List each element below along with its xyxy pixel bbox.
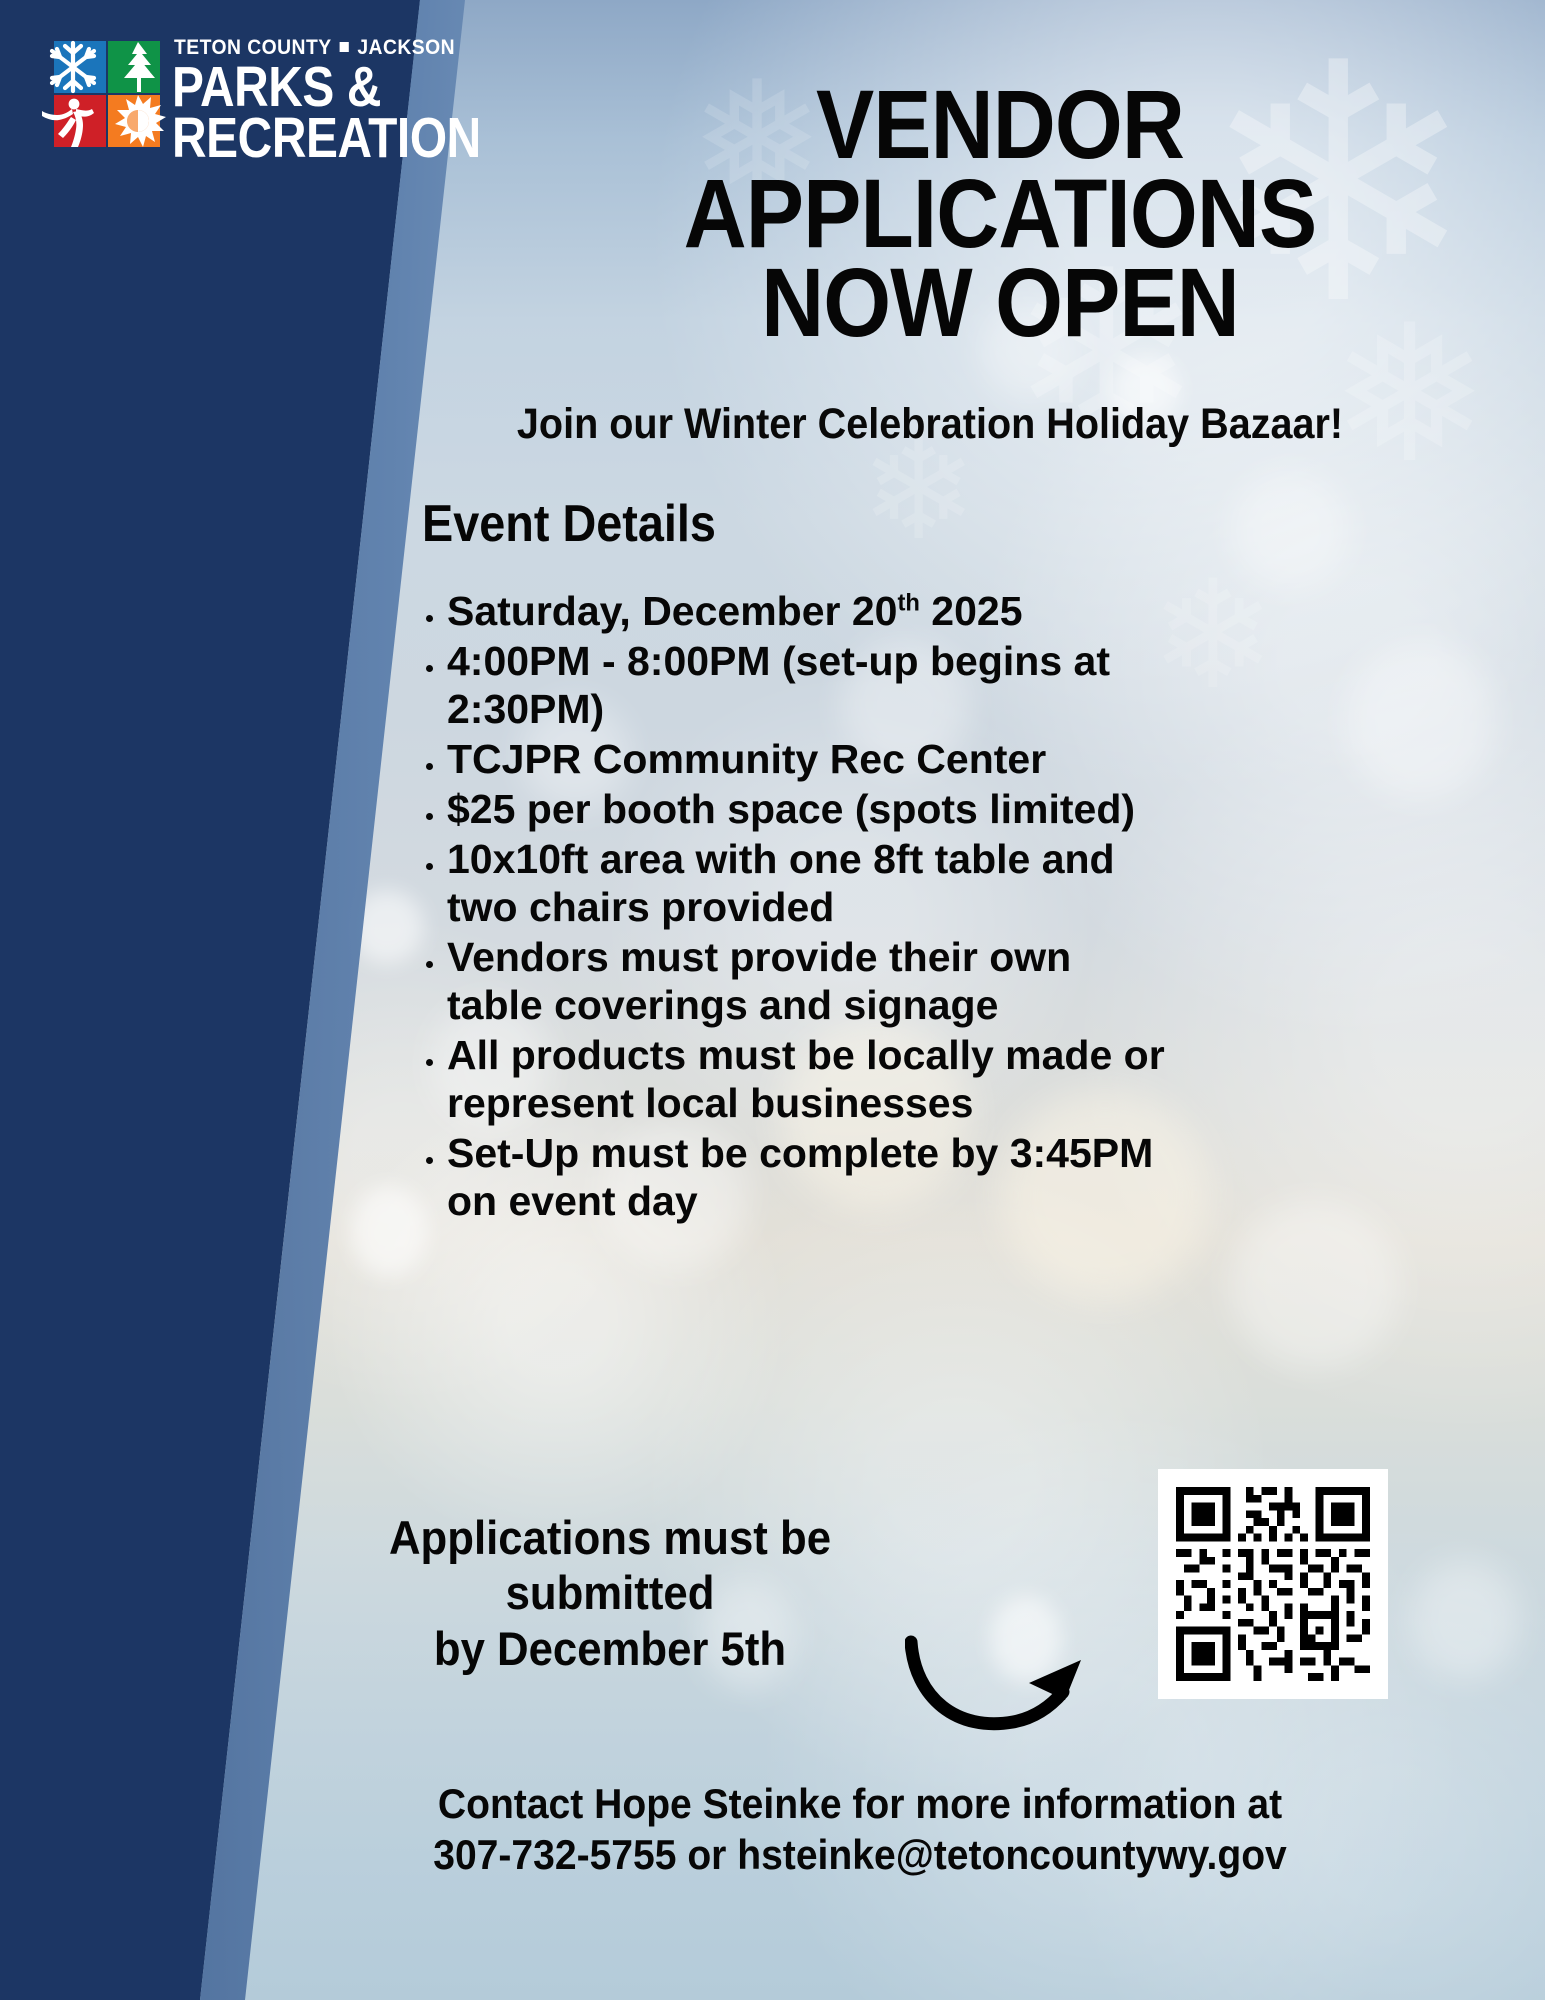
list-item: Set-Up must be complete by 3:45PM on eve… — [447, 1130, 1167, 1226]
event-details-heading: Event Details — [422, 494, 716, 554]
deadline-line-2: by December 5th — [312, 1621, 907, 1676]
contact-line-1: Contact Hope Steinke for more informatio… — [367, 1778, 1353, 1829]
subheadline: Join our Winter Celebration Holiday Baza… — [470, 400, 1390, 449]
headline-line-3: NOW OPEN — [640, 258, 1360, 347]
list-item: $25 per booth space (spots limited) — [447, 786, 1167, 834]
list-item: TCJPR Community Rec Center — [447, 736, 1167, 784]
bullet-text: Vendors must provide their own table cov… — [447, 934, 1071, 1028]
list-item: Vendors must provide their own table cov… — [447, 934, 1167, 1030]
bullet-text: All products must be locally made or rep… — [447, 1032, 1165, 1126]
bullet-text: Saturday, December 20 — [447, 588, 897, 634]
contact-info: Contact Hope Steinke for more informatio… — [367, 1778, 1353, 1880]
list-item: Saturday, December 20th 2025 — [447, 588, 1167, 636]
bullet-text: Set-Up must be complete by 3:45PM on eve… — [447, 1130, 1153, 1224]
deadline-line-1: Applications must be submitted — [312, 1510, 907, 1621]
list-item: 4:00PM - 8:00PM (set-up begins at 2:30PM… — [447, 638, 1167, 734]
list-item: All products must be locally made or rep… — [447, 1032, 1167, 1128]
page-title: VENDOR APPLICATIONS NOW OPEN — [640, 80, 1360, 348]
bullet-text: TCJPR Community Rec Center — [447, 736, 1046, 782]
headline-line-1: VENDOR — [640, 80, 1360, 169]
headline-line-2: APPLICATIONS — [640, 169, 1360, 258]
bullet-text: 4:00PM - 8:00PM (set-up begins at 2:30PM… — [447, 638, 1110, 732]
qr-code-image[interactable] — [1176, 1487, 1370, 1681]
bullet-text-tail: 2025 — [920, 588, 1023, 634]
qr-code[interactable] — [1158, 1469, 1388, 1699]
bullet-superscript: th — [897, 589, 919, 616]
list-item: 10x10ft area with one 8ft table and two … — [447, 836, 1167, 932]
bullet-text: 10x10ft area with one 8ft table and two … — [447, 836, 1115, 930]
flyer-poster: ❄ ❄ ❅ ❄ ❅ ❄ — [0, 0, 1545, 2000]
event-details-list: Saturday, December 20th 2025 4:00PM - 8:… — [405, 588, 1167, 1228]
flyer-content: VENDOR APPLICATIONS NOW OPEN Join our Wi… — [0, 0, 1545, 2000]
application-deadline: Applications must be submitted by Decemb… — [312, 1510, 907, 1676]
bullet-text: $25 per booth space (spots limited) — [447, 786, 1135, 832]
contact-line-2: 307-732-5755 or hsteinke@tetoncountywy.g… — [367, 1829, 1353, 1880]
curved-arrow-icon — [905, 1600, 1095, 1750]
